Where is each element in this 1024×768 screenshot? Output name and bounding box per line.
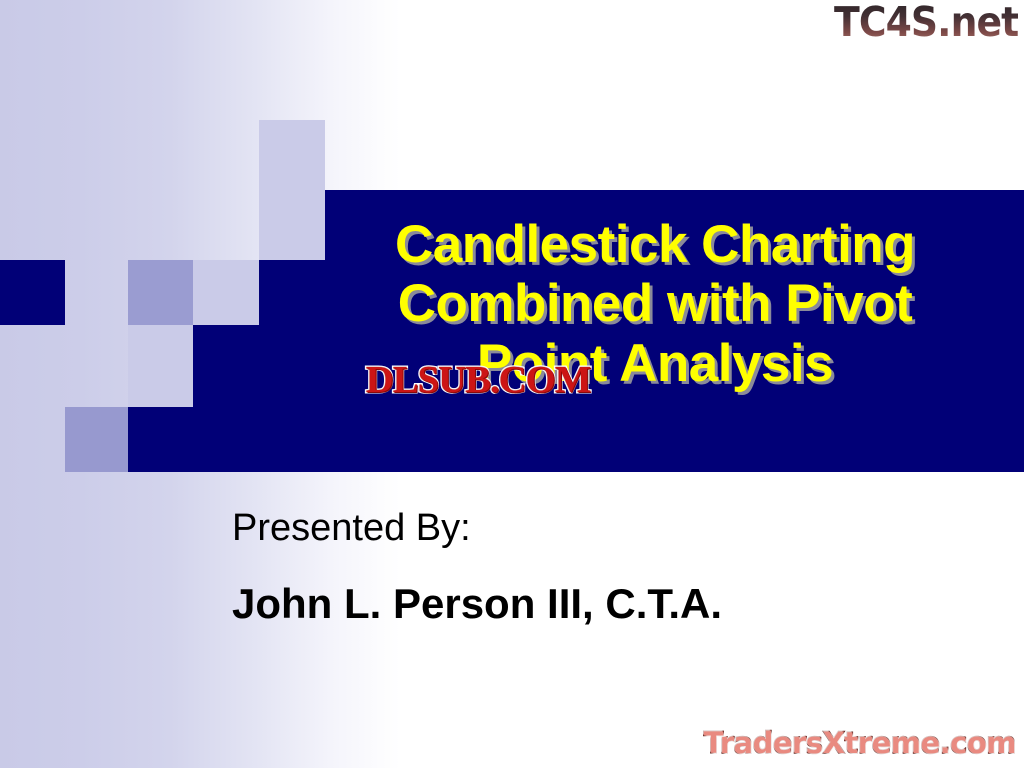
mosaic-square-lavender-a	[128, 325, 193, 407]
mosaic-square-purple-b	[128, 260, 193, 325]
mosaic-square-lavender-g	[259, 120, 325, 190]
dlsub-watermark: DLSUB.COM	[366, 358, 590, 402]
title-line-2: Combined with Pivot	[325, 274, 985, 333]
presented-by-label: Presented By:	[232, 505, 722, 553]
mosaic-square-lavender-c	[193, 260, 259, 325]
title-band-bottom	[128, 407, 1024, 472]
mosaic-square-lavender-e	[259, 190, 325, 260]
presentation-slide: Candlestick Charting Combined with Pivot…	[0, 0, 1024, 768]
tradersxtreme-logo: TradersXtreme.com	[704, 726, 1016, 760]
mosaic-square-navy-left	[0, 260, 65, 325]
presenter-name: John L. Person III, C.T.A.	[232, 579, 722, 629]
tc4s-logo: TC4S.net	[834, 0, 1018, 46]
title-line-1: Candlestick Charting	[325, 215, 985, 274]
mosaic-square-purple-low	[65, 407, 128, 472]
presenter-block: Presented By: John L. Person III, C.T.A.	[232, 505, 722, 629]
